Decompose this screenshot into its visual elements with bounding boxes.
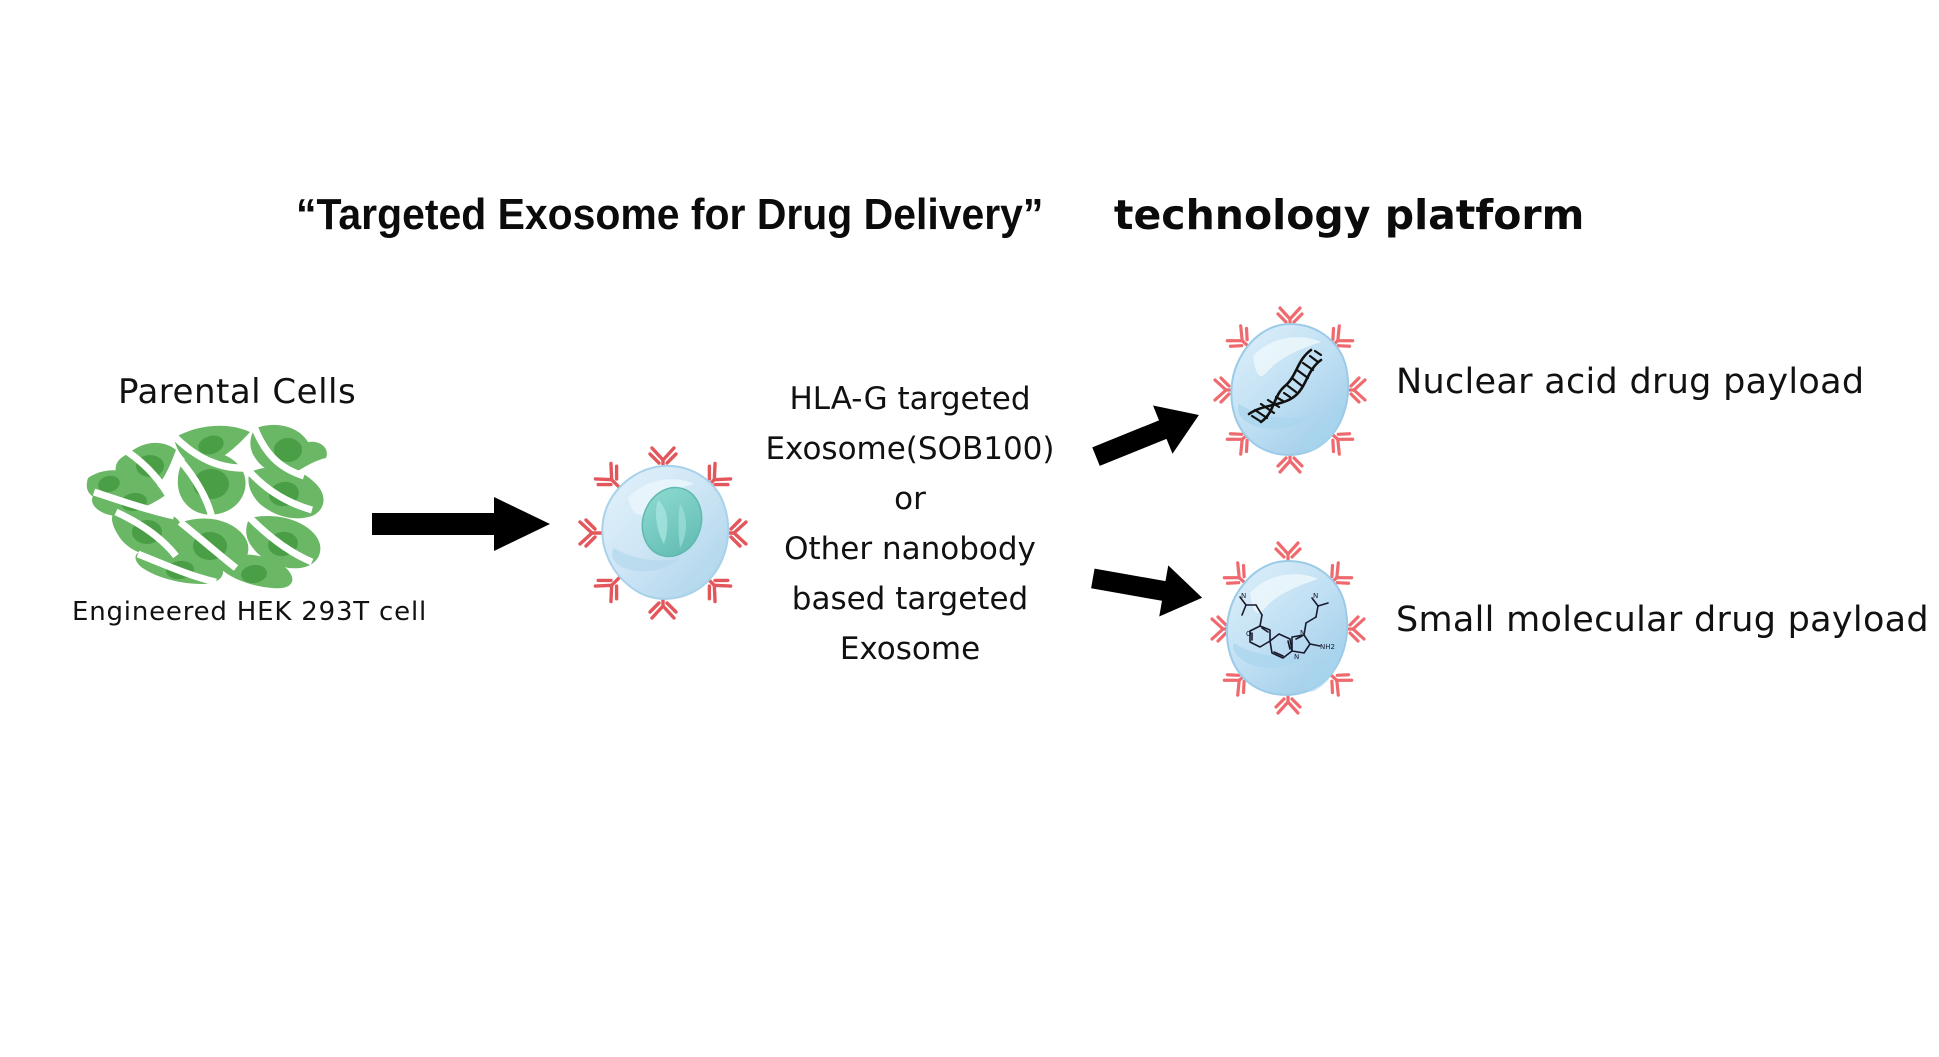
atom-label-n-right: N bbox=[1313, 592, 1318, 600]
middle-line-6: Exosome bbox=[750, 624, 1070, 674]
middle-line-2: Exosome(SOB100) bbox=[750, 424, 1070, 474]
atom-label-nh2: NH2 bbox=[1320, 643, 1335, 651]
middle-line-1: HLA-G targeted bbox=[750, 374, 1070, 424]
green-epithelial-cell-cluster-icon bbox=[78, 418, 368, 588]
label-parental-cells: Parental Cells bbox=[118, 372, 356, 412]
middle-line-5: based targeted bbox=[750, 574, 1070, 624]
down-right-arrow-icon bbox=[1090, 548, 1205, 628]
atom-label-n-left: N bbox=[1241, 592, 1246, 600]
atom-label-n-ring-top: N bbox=[1300, 629, 1305, 637]
label-nuclear-acid-drug-payload: Nuclear acid drug payload bbox=[1396, 362, 1864, 402]
exosome-with-small-molecule-icon: N O N N NH2 N bbox=[1200, 535, 1375, 720]
antibody-decorated-exosome-icon bbox=[568, 438, 758, 628]
page-title-tail: technology platform bbox=[1100, 191, 1585, 239]
middle-line-4: Other nanobody bbox=[750, 524, 1070, 574]
atom-label-n-ring-bottom: N bbox=[1294, 653, 1299, 661]
page-title: “Targeted Exosome for Drug Delivery” tec… bbox=[296, 188, 1636, 242]
label-small-molecular-drug-payload: Small molecular drug payload bbox=[1396, 600, 1929, 640]
exosome-with-dna-helix-icon bbox=[1205, 300, 1375, 480]
up-right-arrow-icon bbox=[1090, 396, 1205, 476]
middle-line-3: or bbox=[750, 474, 1070, 524]
page-title-quoted: “Targeted Exosome for Drug Delivery” bbox=[296, 188, 1043, 242]
label-engineered-hek-cell: Engineered HEK 293T cell bbox=[72, 597, 427, 627]
middle-description-text: HLA-G targeted Exosome(SOB100) or Other … bbox=[750, 374, 1070, 674]
atom-label-o: O bbox=[1246, 630, 1252, 638]
diagram-canvas: “Targeted Exosome for Drug Delivery” tec… bbox=[0, 0, 1939, 1057]
right-arrow-icon bbox=[372, 495, 552, 553]
